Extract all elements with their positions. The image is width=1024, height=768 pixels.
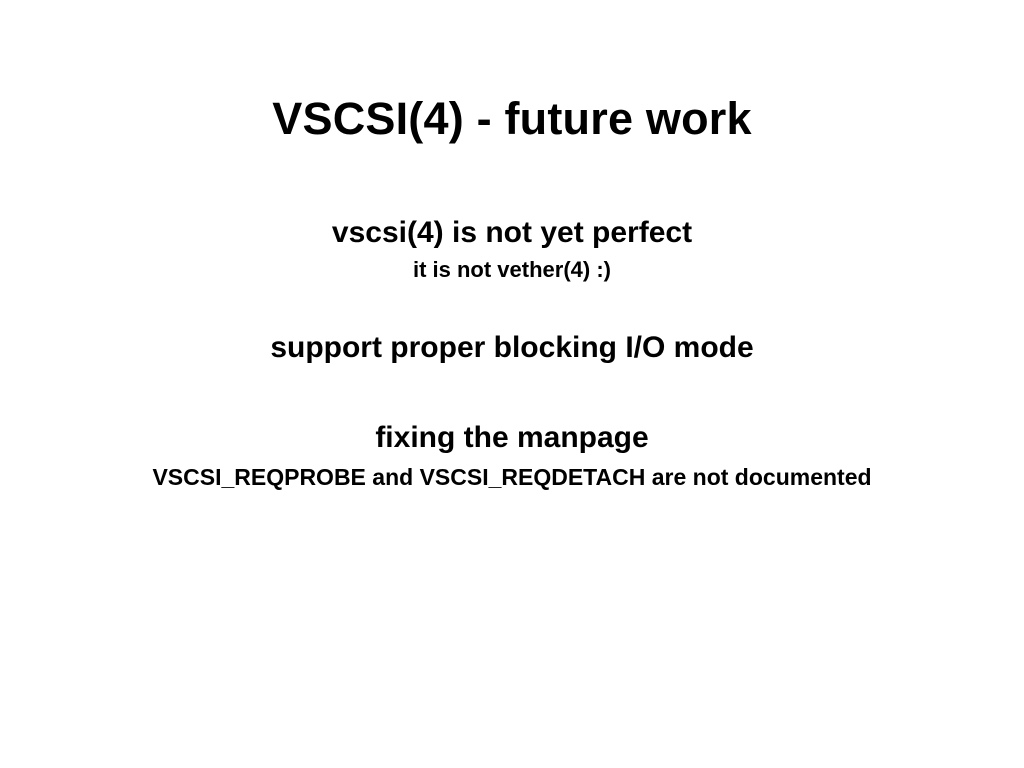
block-note: VSCSI_REQPROBE and VSCSI_REQDETACH are n… [0,463,1024,492]
content-block-perfect: vscsi(4) is not yet perfect it is not ve… [0,215,1024,283]
content-block-manpage: fixing the manpage VSCSI_REQPROBE and VS… [0,420,1024,492]
presentation-slide: VSCSI(4) - future work vscsi(4) is not y… [0,0,1024,768]
block-heading: fixing the manpage [0,420,1024,457]
content-block-blocking-io: support proper blocking I/O mode [0,330,1024,367]
block-heading: vscsi(4) is not yet perfect [0,215,1024,252]
slide-title: VSCSI(4) - future work [0,93,1024,145]
block-note: it is not vether(4) :) [0,256,1024,284]
block-heading: support proper blocking I/O mode [0,330,1024,367]
